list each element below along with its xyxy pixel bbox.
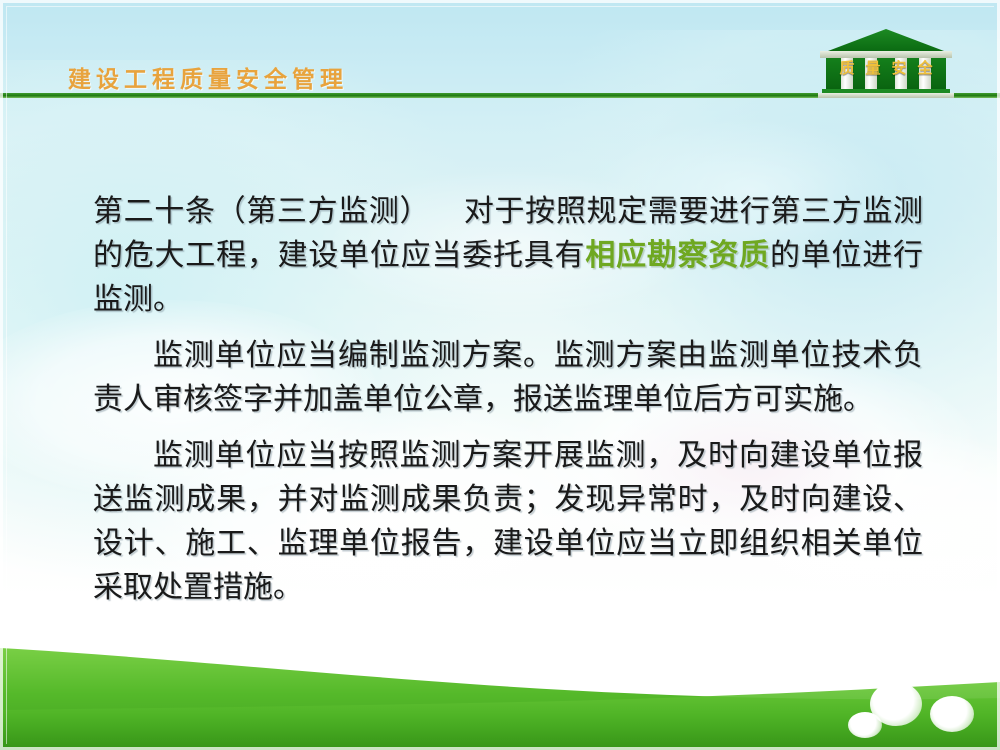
cloud-puff [848, 712, 882, 738]
slide: 建设工程质量安全管理 [0, 0, 1000, 750]
paragraph-2-text: 监测单位应当编制监测方案。监测方案由监测单位技术负责人审核签字并加盖单位公章，报… [93, 338, 923, 417]
quality-safety-temple-logo: 质量安全 [810, 27, 962, 100]
grass-hills [0, 610, 1000, 750]
paragraph-3-text: 监测单位应当按照监测方案开展监测，及时向建设单位报送监测成果，并对监测成果负责；… [93, 438, 923, 605]
paragraph-3: 监测单位应当按照监测方案开展监测，及时向建设单位报送监测成果，并对监测成果负责；… [93, 434, 923, 610]
cloud-puff [930, 696, 974, 732]
slide-header: 建设工程质量安全管理 [0, 0, 1000, 100]
paragraph-article-20: 第二十条（第三方监测）对于按照规定需要进行第三方监测的危大工程，建设单位应当委托… [93, 190, 923, 322]
page-title: 建设工程质量安全管理 [68, 60, 348, 94]
article-label: 第二十条（第三方监测） [93, 194, 430, 229]
slide-body: 第二十条（第三方监测）对于按照规定需要进行第三方监测的危大工程，建设单位应当委托… [93, 190, 923, 622]
highlighted-term: 相应勘察资质 [585, 238, 770, 273]
paragraph-2: 监测单位应当编制监测方案。监测方案由监测单位技术负责人审核签字并加盖单位公章，报… [93, 334, 923, 422]
